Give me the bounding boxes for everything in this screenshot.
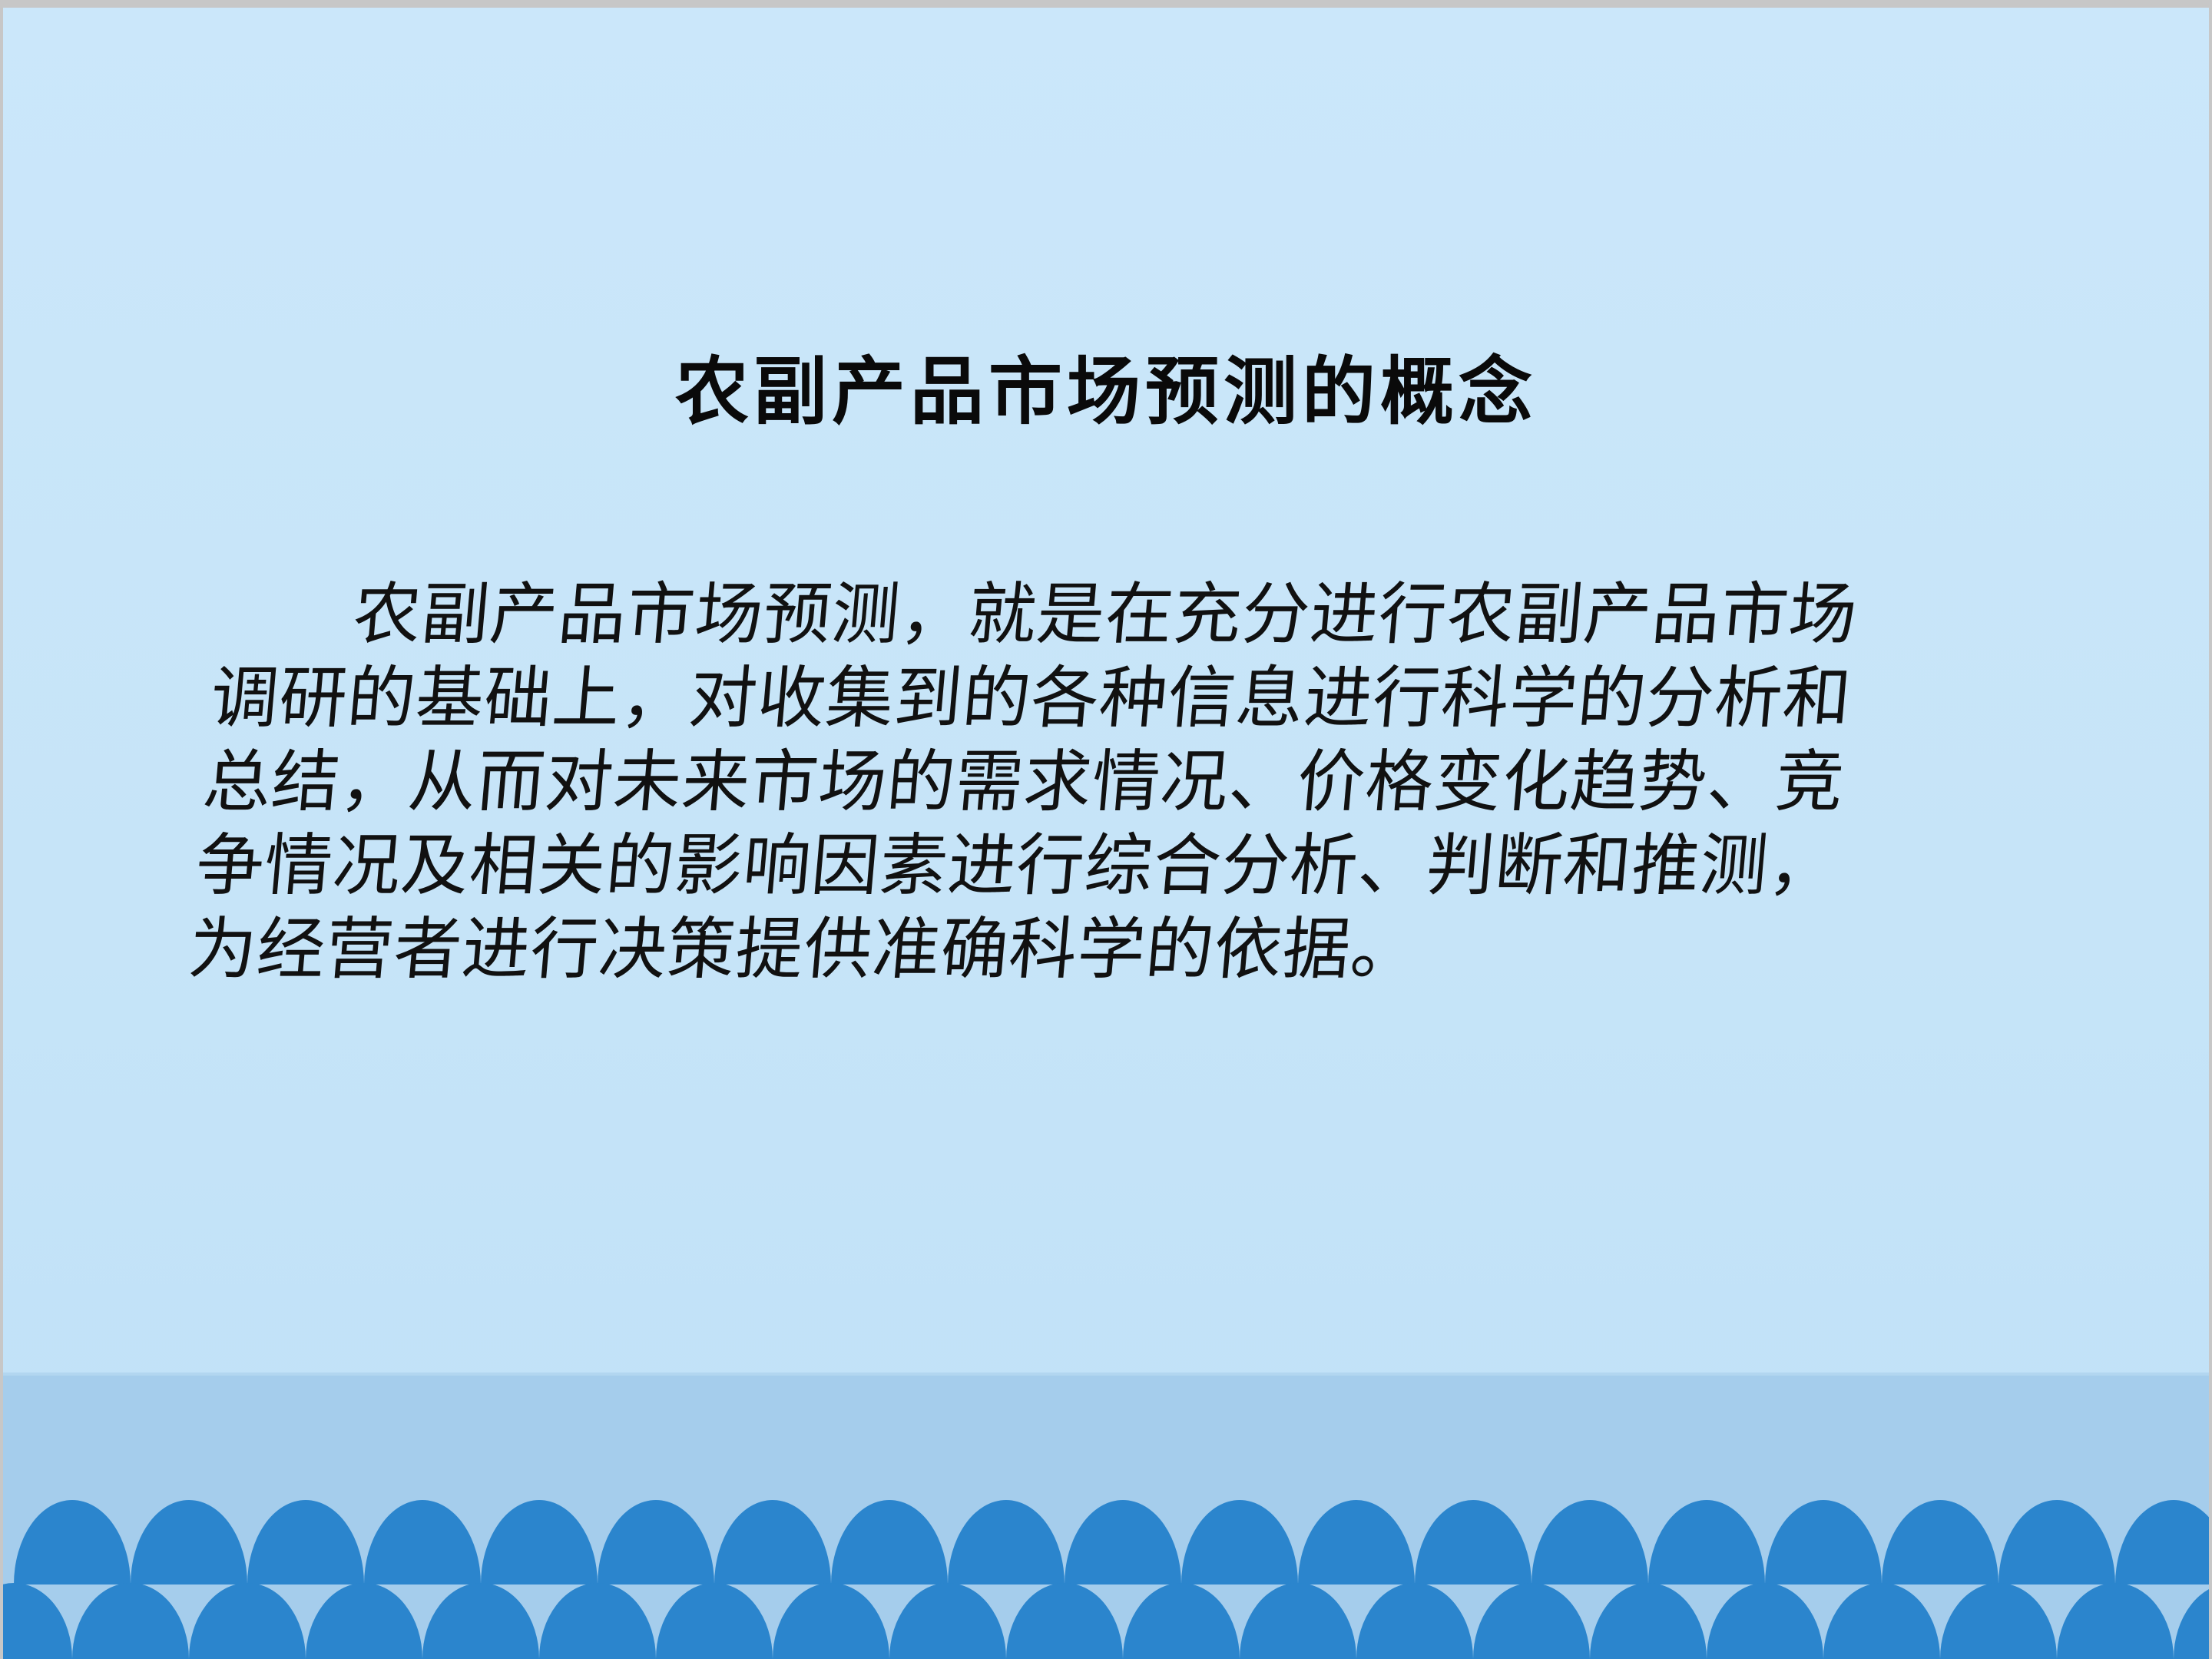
scallop-arch — [1298, 1500, 1415, 1584]
scallop-arch — [1240, 1583, 1356, 1659]
scallop-arch — [773, 1583, 889, 1659]
scallop-arch — [364, 1500, 481, 1584]
scallop-arch — [481, 1500, 598, 1584]
slide-frame-right — [2209, 0, 2212, 1659]
scallop-arch — [1123, 1583, 1240, 1659]
scallop-arch — [1006, 1583, 1123, 1659]
scallop-arch — [1882, 1500, 1998, 1584]
scallop-decoration-row-front — [3, 1583, 2209, 1659]
scallop-arch — [306, 1583, 422, 1659]
scallop-arch — [889, 1583, 1006, 1659]
body-line: 为经营者进行决策提供准确科学的依据。 — [185, 907, 1982, 991]
scallop-arch — [1998, 1500, 2115, 1584]
scallop-arch — [1823, 1583, 1940, 1659]
scallop-arch — [131, 1500, 247, 1584]
scallop-arch — [2174, 1583, 2209, 1659]
scallop-arch — [1765, 1500, 1882, 1584]
presentation-slide: 农副产品市场预测的概念 农副产品市场预测，就是在充分进行农副产品市场 调研的基础… — [0, 0, 2212, 1659]
scallop-arch — [598, 1500, 714, 1584]
scallop-arch — [72, 1583, 189, 1659]
scallop-arch — [539, 1583, 656, 1659]
body-line: 总结，从而对未来市场的需求情况、价格变化趋势、竞 — [200, 740, 1997, 823]
scallop-arch — [1181, 1500, 1298, 1584]
slide-body: 农副产品市场预测，就是在充分进行农副产品市场 调研的基础上，对收集到的各种信息进… — [222, 572, 2012, 991]
scallop-arch — [656, 1583, 773, 1659]
body-line: 争情况及相关的影响因素进行综合分析、判断和推测， — [193, 823, 1990, 907]
scallop-arch — [1532, 1500, 1648, 1584]
body-line: 农副产品市场预测，就是在充分进行农副产品市场 — [214, 572, 2012, 656]
scallop-arch — [1065, 1500, 1181, 1584]
scallop-arch — [1473, 1583, 1590, 1659]
scallop-arch — [1940, 1583, 2057, 1659]
scallop-arch — [14, 1500, 131, 1584]
slide-frame-top — [0, 0, 2212, 8]
scallop-arch — [247, 1500, 364, 1584]
scallop-arch — [1415, 1500, 1532, 1584]
scallop-arch — [948, 1500, 1065, 1584]
scallop-arch — [3, 1583, 72, 1659]
scallop-arch — [1590, 1583, 1707, 1659]
footer-band-hairline — [3, 1373, 2209, 1376]
scallop-decoration-row-back — [3, 1500, 2209, 1584]
scallop-arch — [2115, 1500, 2209, 1584]
scallop-arch — [189, 1583, 306, 1659]
scallop-arch — [422, 1583, 539, 1659]
scallop-arch — [831, 1500, 948, 1584]
scallop-arch — [1707, 1583, 1823, 1659]
scallop-arch — [1648, 1500, 1765, 1584]
body-line: 调研的基础上，对收集到的各种信息进行科学的分析和 — [207, 656, 2005, 740]
scallop-arch — [1356, 1583, 1473, 1659]
body-paragraph: 农副产品市场预测，就是在充分进行农副产品市场 调研的基础上，对收集到的各种信息进… — [185, 572, 2012, 991]
scallop-arch — [2057, 1583, 2174, 1659]
scallop-arch — [714, 1500, 831, 1584]
slide-canvas: 农副产品市场预测的概念 农副产品市场预测，就是在充分进行农副产品市场 调研的基础… — [3, 8, 2209, 1659]
slide-title: 农副产品市场预测的概念 — [3, 341, 2209, 442]
